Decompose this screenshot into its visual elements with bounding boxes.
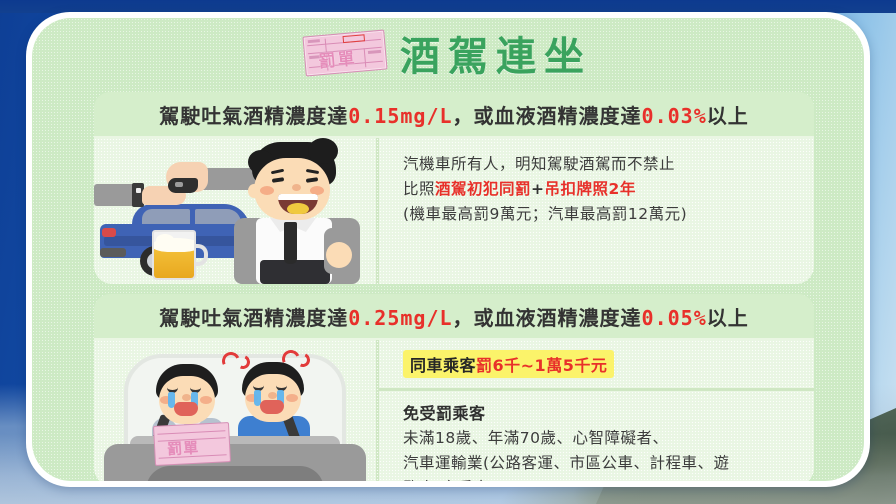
- exempt-subhead: 免受罰乘客: [403, 400, 814, 424]
- main-card-inner: 罰單 酒駕連坐 駕駛吐氣酒精濃度達0.15mg/L，或血液酒精濃度達0.03%以…: [32, 18, 864, 481]
- highlight-key: 同車乘客: [410, 356, 476, 375]
- section-1-banner: 駕駛吐氣酒精濃度達0.15mg/L，或血液酒精濃度達0.03%以上: [94, 92, 814, 138]
- line2-red-2: 吊扣牌照2年: [545, 180, 636, 198]
- poster-root: 罰單 酒駕連坐 駕駛吐氣酒精濃度達0.15mg/L，或血液酒精濃度達0.03%以…: [0, 0, 896, 504]
- banner2-value1: 0.25mg/L: [348, 306, 452, 330]
- section-2-banner: 駕駛吐氣酒精濃度達0.25mg/L，或血液酒精濃度達0.05%以上: [94, 294, 814, 340]
- exempt-line-3: 覽車)之乘客: [403, 476, 814, 481]
- line2-red-1: 酒駕初犯同罰: [435, 180, 531, 198]
- section-1-line-1: 汽機車所有人，明知駕駛酒駕而不禁止: [403, 152, 814, 177]
- section-2-panel: 罰單 同車乘客罰6千~1萬5千元 免受罰乘客 未滿18歲、年滿70歲、心智障礙者…: [94, 340, 814, 481]
- highlight-value: 罰6千~1萬5千元: [476, 356, 607, 375]
- illustration-driver-keys-beer: [94, 138, 376, 284]
- line2-prefix: 比照: [403, 180, 435, 198]
- section-1-panel: 汽機車所有人，明知駕駛酒駕而不禁止 比照酒駕初犯同罰+吊扣牌照2年 (機車最高罰…: [94, 138, 814, 284]
- illustration-crying-passengers: 罰單: [94, 340, 376, 481]
- section-1-line-2: 比照酒駕初犯同罰+吊扣牌照2年: [403, 177, 814, 202]
- banner1-value2: 0.03%: [642, 104, 707, 128]
- banner1-suffix: 以上: [707, 104, 749, 128]
- section-1-banner-text: 駕駛吐氣酒精濃度達0.15mg/L，或血液酒精濃度達0.03%以上: [159, 100, 749, 129]
- main-card: 罰單 酒駕連坐 駕駛吐氣酒精濃度達0.15mg/L，或血液酒精濃度達0.03%以…: [26, 12, 870, 487]
- section-1: 駕駛吐氣酒精濃度達0.15mg/L，或血液酒精濃度達0.03%以上: [94, 92, 814, 284]
- section-2-banner-text: 駕駛吐氣酒精濃度達0.25mg/L，或血液酒精濃度達0.05%以上: [159, 302, 749, 331]
- penalty-ticket-graphic: 罰單: [153, 422, 231, 466]
- banner2-value2: 0.05%: [642, 306, 707, 330]
- banner2-prefix: 駕駛吐氣酒精濃度達: [159, 306, 348, 330]
- banner1-value1: 0.15mg/L: [348, 104, 452, 128]
- drunk-man-graphic: [220, 142, 376, 284]
- passenger-fine-highlight: 同車乘客罰6千~1萬5千元: [403, 350, 614, 378]
- section-1-text: 汽機車所有人，明知駕駛酒駕而不禁止 比照酒駕初犯同罰+吊扣牌照2年 (機車最高罰…: [379, 138, 814, 284]
- page-title: 酒駕連坐: [400, 24, 592, 82]
- highlight-row: 同車乘客罰6千~1萬5千元: [379, 340, 814, 384]
- banner2-middle: ，或血液酒精濃度達: [453, 306, 642, 330]
- section-2: 駕駛吐氣酒精濃度達0.25mg/L，或血液酒精濃度達0.05%以上: [94, 294, 814, 481]
- ticket-icon: 罰單: [302, 30, 387, 77]
- car-key-icon: [168, 178, 198, 193]
- banner1-middle: ，或血液酒精濃度達: [453, 104, 642, 128]
- exempt-line-1: 未滿18歲、年滿70歲、心智障礙者、: [403, 426, 814, 451]
- penalty-ticket-label: 罰單: [167, 437, 200, 460]
- beer-mug-icon: [152, 230, 206, 280]
- section-2-text: 同車乘客罰6千~1萬5千元 免受罰乘客 未滿18歲、年滿70歲、心智障礙者、 汽…: [379, 340, 814, 481]
- banner1-prefix: 駕駛吐氣酒精濃度達: [159, 104, 348, 128]
- line2-plus: +: [531, 180, 545, 198]
- section-1-line-3: (機車最高罰9萬元；汽車最高罰12萬元): [403, 202, 814, 227]
- poster-header: 罰單 酒駕連坐: [32, 22, 864, 84]
- exempt-passengers-block: 免受罰乘客 未滿18歲、年滿70歲、心智障礙者、 汽車運輸業(公路客運、市區公車…: [379, 391, 814, 481]
- banner2-suffix: 以上: [707, 306, 749, 330]
- ticket-icon-stamp-label: 罰單: [317, 44, 357, 72]
- exempt-line-2: 汽車運輸業(公路客運、市區公車、計程車、遊: [403, 451, 814, 476]
